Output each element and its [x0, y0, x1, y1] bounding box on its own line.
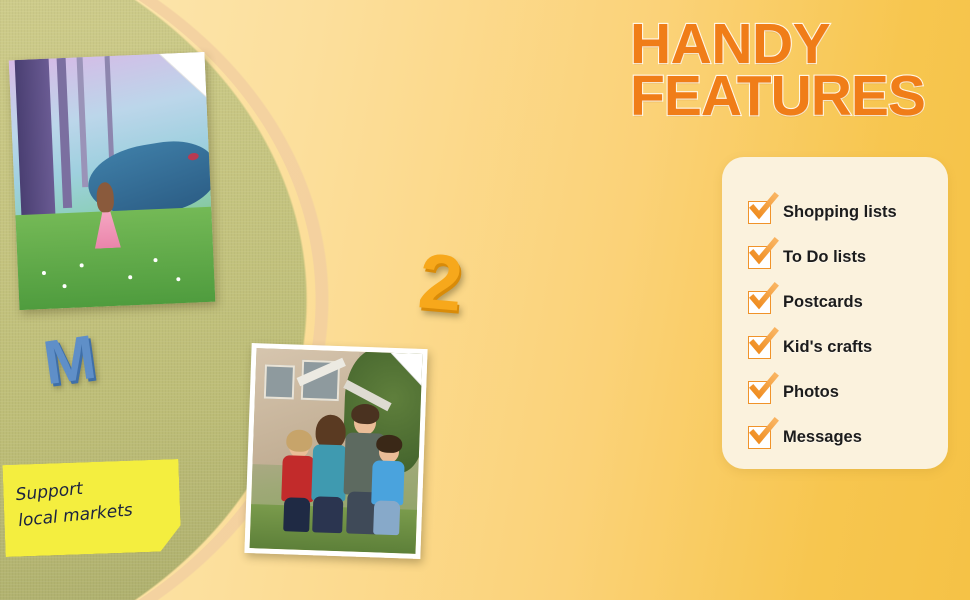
number-magnet-2: 2 [416, 241, 466, 322]
checklist-item-label: Photos [783, 383, 839, 402]
checklist-item[interactable]: Postcards [748, 280, 938, 325]
checklist-item[interactable]: Shopping lists [748, 190, 938, 235]
letter-magnet-m: M [40, 327, 100, 396]
checkbox-checked-icon[interactable] [748, 246, 771, 269]
checklist: Shopping lists To Do lists Postcards Kid… [748, 190, 938, 460]
checkbox-checked-icon[interactable] [748, 291, 771, 314]
checklist-item-label: Messages [783, 428, 862, 447]
checklist-item[interactable]: Photos [748, 370, 938, 415]
checklist-card: Shopping lists To Do lists Postcards Kid… [722, 157, 948, 469]
photo-family [244, 343, 427, 559]
checklist-item[interactable]: Messages [748, 415, 938, 460]
page-title: HANDY FEATURES [630, 18, 966, 123]
checklist-item-label: Postcards [783, 293, 863, 312]
page-title-line2: FEATURES [630, 70, 966, 122]
checklist-item[interactable]: Kid's crafts [748, 325, 938, 370]
sticky-note: Support local markets [2, 459, 181, 557]
checklist-item-label: Kid's crafts [783, 338, 872, 357]
checkbox-checked-icon[interactable] [748, 201, 771, 224]
checkbox-checked-icon[interactable] [748, 381, 771, 404]
infographic-root: M 2 Support local markets 3-LAYER STRUCT… [0, 0, 970, 600]
postcard-girl-whale [9, 52, 216, 310]
page-title-line1: HANDY [630, 18, 966, 70]
checklist-item[interactable]: To Do lists [748, 235, 938, 280]
checklist-item-label: To Do lists [783, 248, 866, 267]
checkbox-checked-icon[interactable] [748, 426, 771, 449]
sticky-note-text: Support local markets [15, 469, 169, 534]
checkbox-checked-icon[interactable] [748, 336, 771, 359]
checklist-item-label: Shopping lists [783, 203, 897, 222]
